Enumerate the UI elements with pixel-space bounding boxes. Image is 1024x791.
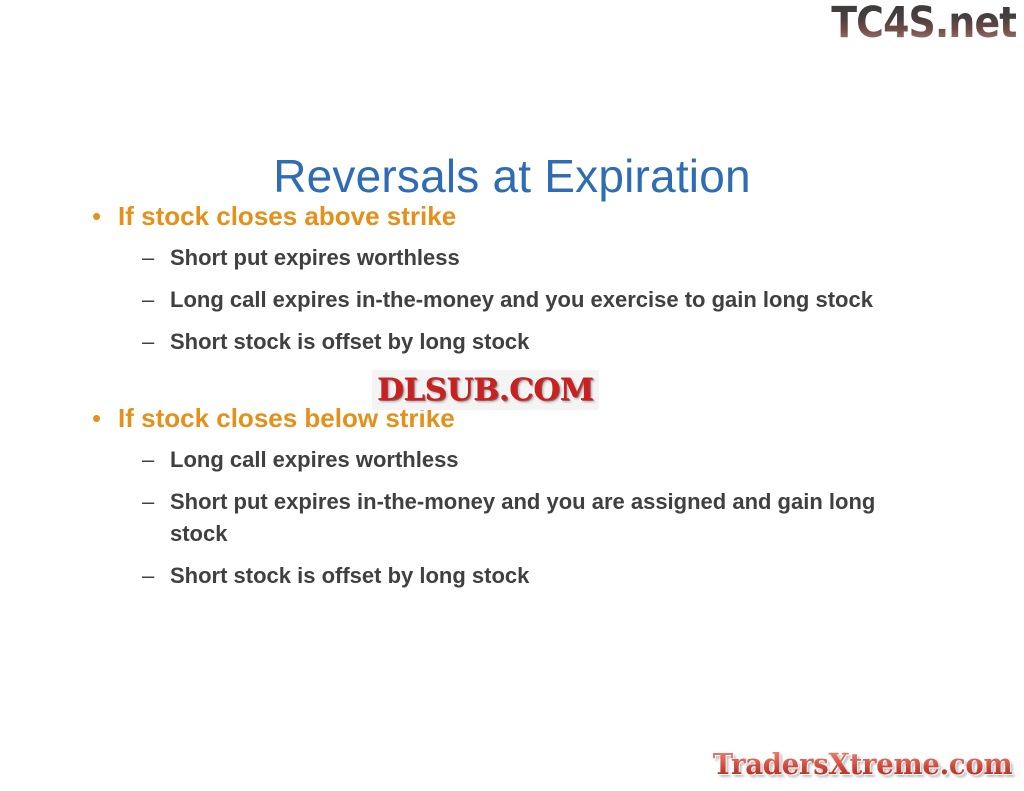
- list-item-label: Long call expires worthless: [170, 444, 459, 476]
- list-item: – Short stock is offset by long stock: [142, 326, 972, 358]
- list-item-label: Short put expires in-the-money and you a…: [170, 486, 910, 550]
- list-item: – Short stock is offset by long stock: [142, 560, 972, 592]
- dash-marker-icon: –: [142, 284, 170, 316]
- bullet-dot-icon: •: [92, 198, 118, 234]
- slide-title: Reversals at Expiration: [0, 149, 1024, 203]
- dash-marker-icon: –: [142, 444, 170, 476]
- bullet-heading-label: If stock closes above strike: [118, 198, 456, 234]
- list-item-label: Short stock is offset by long stock: [170, 326, 529, 358]
- dlsub-watermark: DLSUB.COM: [372, 370, 599, 410]
- dash-marker-icon: –: [142, 486, 170, 518]
- bullet-group-above-strike: • If stock closes above strike – Short p…: [92, 198, 972, 358]
- bullet-heading-above-strike: • If stock closes above strike: [92, 198, 972, 234]
- list-item: – Long call expires worthless: [142, 444, 972, 476]
- bullet-group-below-strike: • If stock closes below strike – Long ca…: [92, 400, 972, 592]
- list-item-label: Short stock is offset by long stock: [170, 560, 529, 592]
- list-item: – Short put expires in-the-money and you…: [142, 486, 972, 550]
- tc4s-brand-logo: TC4S.net: [831, 2, 1016, 45]
- bullet-dot-icon: •: [92, 400, 118, 436]
- list-item-label: Short put expires worthless: [170, 242, 460, 274]
- dash-marker-icon: –: [142, 326, 170, 358]
- list-item-label: Long call expires in-the-money and you e…: [170, 284, 873, 316]
- list-item: – Short put expires worthless: [142, 242, 972, 274]
- dash-marker-icon: –: [142, 560, 170, 592]
- presentation-slide: TC4S.net Reversals at Expiration • If st…: [0, 0, 1024, 791]
- list-item: – Long call expires in-the-money and you…: [142, 284, 972, 316]
- dash-marker-icon: –: [142, 242, 170, 274]
- tradersxtreme-footer-logo: TradersXtreme.com: [712, 747, 1012, 781]
